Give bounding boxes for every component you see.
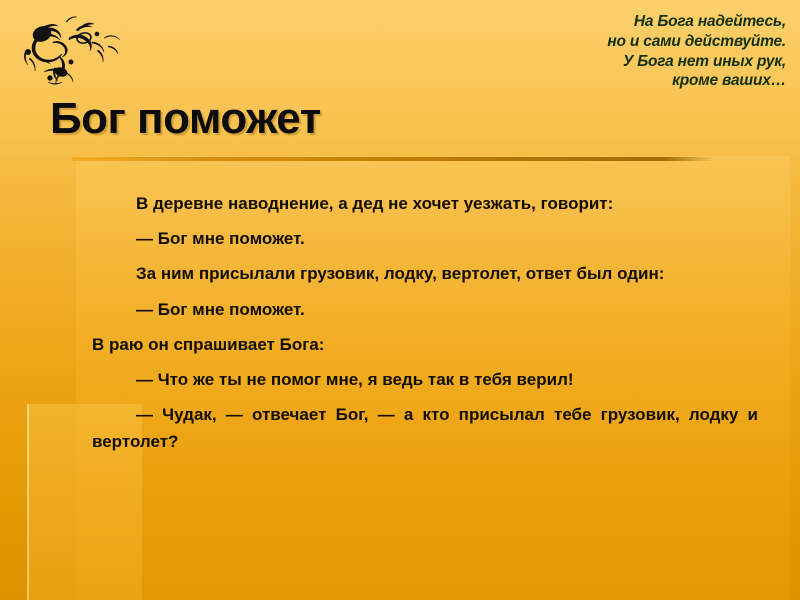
body-paragraph: В деревне наводнение, а дед не хочет уез… bbox=[92, 190, 758, 217]
title-divider bbox=[72, 157, 715, 161]
body-paragraph: — Что же ты не помог мне, я ведь так в т… bbox=[92, 366, 758, 393]
epigraph-line-4: кроме ваших… bbox=[456, 71, 786, 91]
body-paragraph: — Бог мне поможет. bbox=[92, 296, 758, 323]
page-title: Бог поможет bbox=[50, 97, 321, 141]
body-paragraph: За ним присылали грузовик, лодку, вертол… bbox=[92, 260, 758, 287]
epigraph-line-1: На Бога надейтесь, bbox=[456, 12, 786, 32]
epigraph-line-2: но и сами действуйте. bbox=[456, 32, 786, 52]
presentation-slide: На Бога надейтесь, но и сами действуйте.… bbox=[0, 0, 800, 600]
body-paragraph: — Бог мне поможет. bbox=[92, 225, 758, 252]
slide-body-text: В деревне наводнение, а дед не хочет уез… bbox=[92, 190, 758, 464]
epigraph-line-3: У Бога нет иных рук, bbox=[456, 52, 786, 72]
body-paragraph: В раю он спрашивает Бога: bbox=[92, 331, 758, 358]
content-panel-left-highlight bbox=[76, 156, 79, 600]
body-paragraph: — Чудак, — отвечает Бог, — а кто присыла… bbox=[92, 401, 758, 455]
floral-swirl-ornament-icon bbox=[14, 12, 134, 92]
epigraph-quote: На Бога надейтесь, но и сами действуйте.… bbox=[456, 12, 786, 91]
